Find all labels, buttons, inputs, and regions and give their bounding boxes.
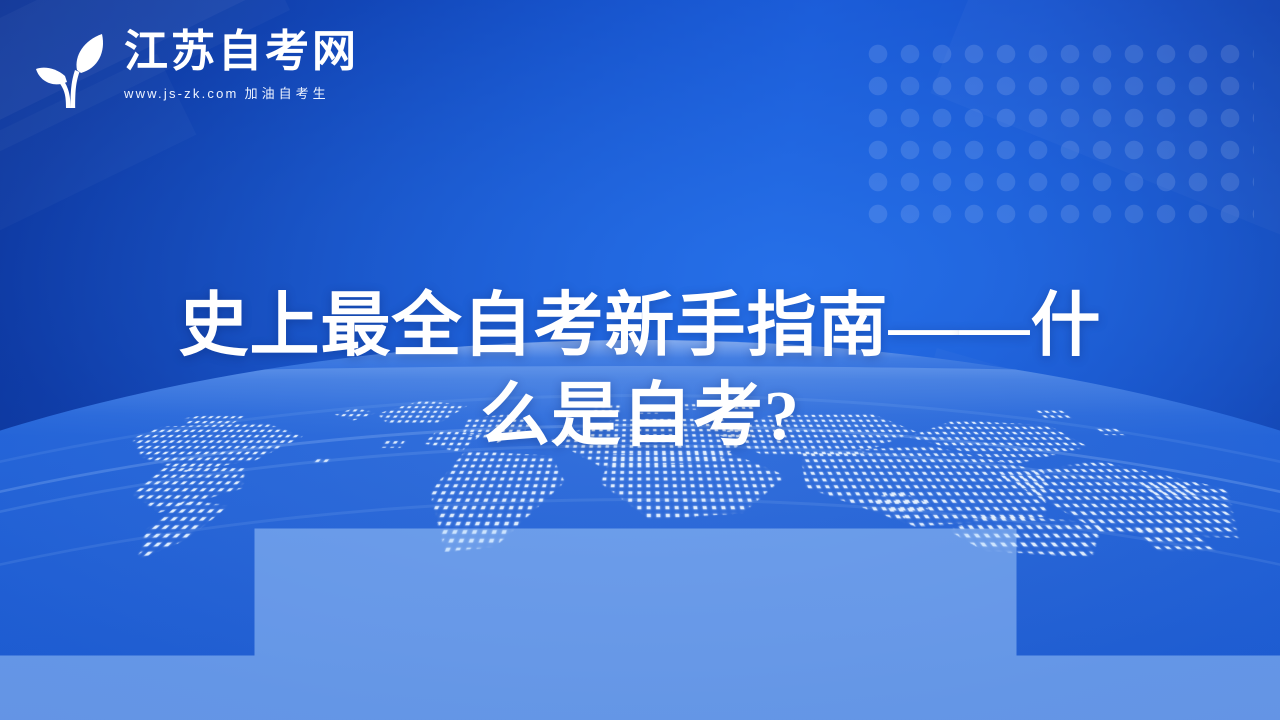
news-banner: NEWS NEWS: [0, 0, 1280, 720]
logo-tagline-slogan: 加油自考生: [245, 86, 330, 101]
watermark-news-left: NEWS: [0, 0, 20, 120]
dot-grid-top-right: [862, 38, 1254, 234]
sprout-icon: [34, 26, 110, 110]
logo-tagline-url: www.js-zk.com: [124, 86, 239, 101]
headline-line-1: 史上最全自考新手指南—: [179, 288, 960, 365]
headline: 史上最全自考新手指南——什么是自考?: [0, 282, 1280, 461]
logo-tagline: www.js-zk.com加油自考生: [124, 83, 359, 102]
light-band-decoration: [930, 0, 1280, 288]
logo-title: 江苏自考网: [124, 26, 359, 78]
site-logo[interactable]: 江苏自考网 www.js-zk.com加油自考生: [34, 26, 359, 110]
